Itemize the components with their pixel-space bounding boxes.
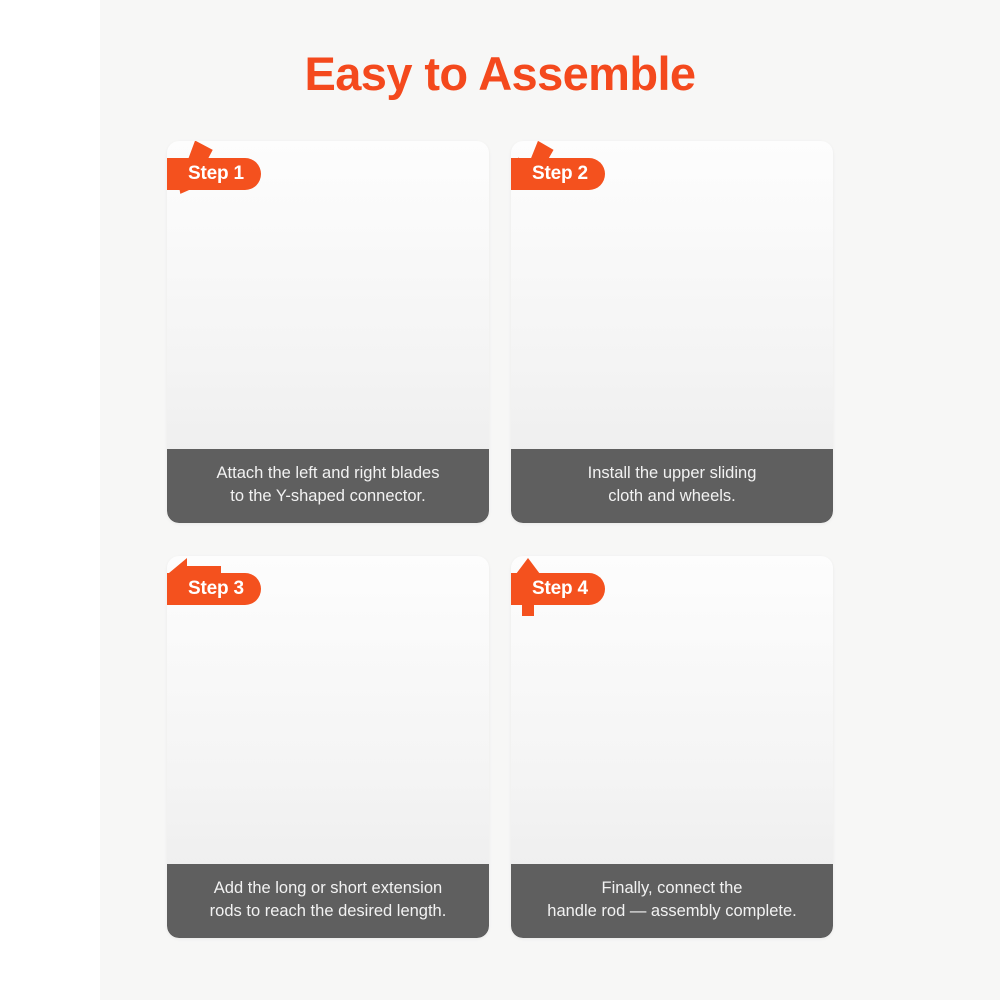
step-1-caption-line-2: to the Y-shaped connector. bbox=[175, 485, 481, 508]
page-title: Easy to Assemble bbox=[0, 46, 1000, 101]
step-card-1[interactable]: Step 1 Attach the left and right blades … bbox=[167, 141, 489, 523]
step-2-caption: Install the upper sliding cloth and whee… bbox=[511, 449, 833, 523]
step-3-caption-line-2: rods to reach the desired length. bbox=[175, 900, 481, 923]
step-3-caption: Add the long or short extension rods to … bbox=[167, 864, 489, 938]
step-1-caption-line-1: Attach the left and right blades bbox=[175, 462, 481, 485]
step-1-badge: Step 1 bbox=[167, 158, 261, 190]
step-4-caption: Finally, connect the handle rod — assemb… bbox=[511, 864, 833, 938]
step-3-badge: Step 3 bbox=[167, 573, 261, 605]
step-1-caption: Attach the left and right blades to the … bbox=[167, 449, 489, 523]
step-4-caption-line-1: Finally, connect the bbox=[519, 877, 825, 900]
step-3-caption-line-1: Add the long or short extension bbox=[175, 877, 481, 900]
step-4-badge: Step 4 bbox=[511, 573, 605, 605]
step-2-badge: Step 2 bbox=[511, 158, 605, 190]
step-2-caption-line-1: Install the upper sliding bbox=[519, 462, 825, 485]
steps-grid: Step 1 Attach the left and right blades … bbox=[167, 141, 833, 947]
step-card-2[interactable]: Step 2 Install the upper sliding cloth a… bbox=[511, 141, 833, 523]
step-4-caption-line-2: handle rod — assembly complete. bbox=[519, 900, 825, 923]
step-2-caption-line-2: cloth and wheels. bbox=[519, 485, 825, 508]
step-card-3[interactable]: Step 3 Add the long or short extension r… bbox=[167, 556, 489, 938]
assembly-instructions-page: Easy to Assemble bbox=[0, 0, 1000, 1000]
step-card-4[interactable]: Step 4 Finally, connect the handle rod —… bbox=[511, 556, 833, 938]
